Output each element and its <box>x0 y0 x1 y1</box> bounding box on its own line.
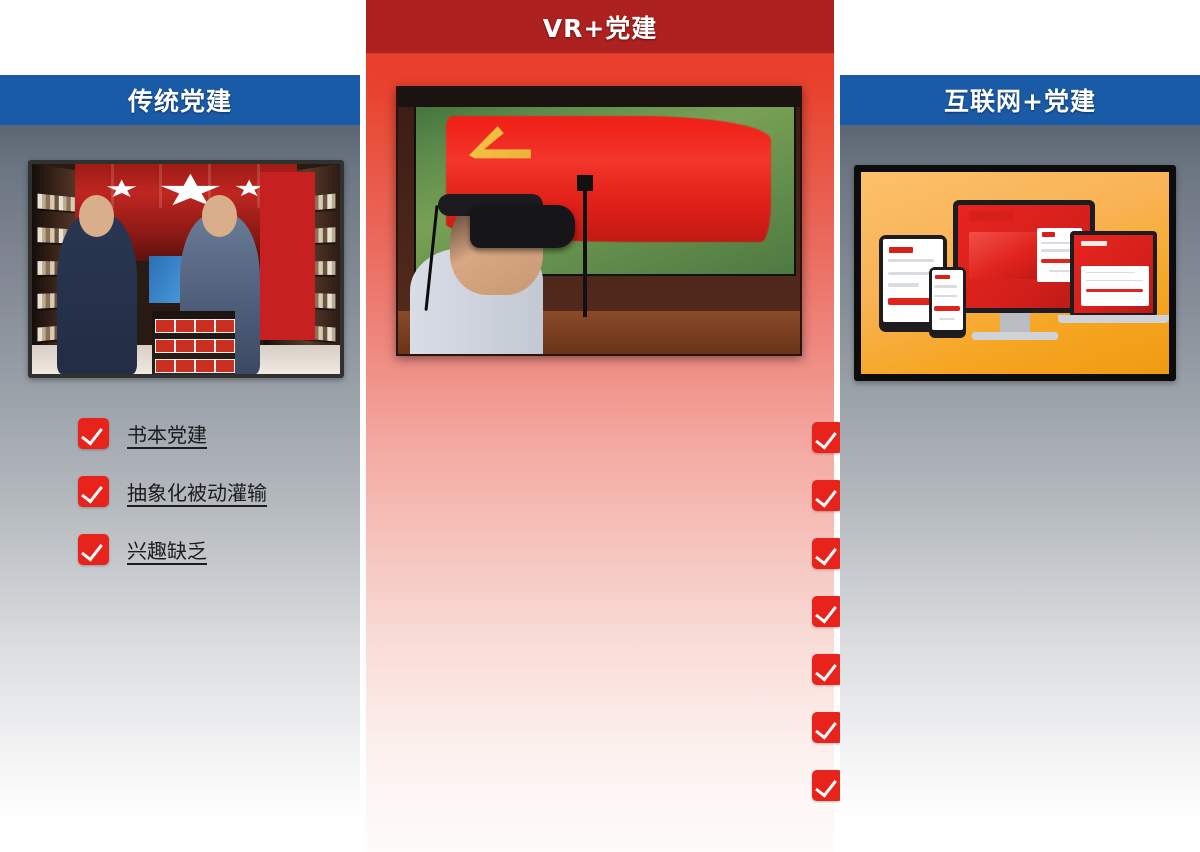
multi-device-image <box>861 172 1169 374</box>
list-item-label: 抽象化被动灌输 <box>127 477 267 506</box>
list-item[interactable]: 交互式深入学习 <box>812 466 834 524</box>
left-feature-list: 书本党建 抽象化被动灌输 兴趣缺乏 <box>78 404 360 578</box>
middle-column-header: VR+党建 <box>366 0 834 53</box>
right-photo-frame <box>854 165 1176 381</box>
list-item[interactable]: 书本党建 <box>78 404 360 462</box>
left-column-header: 传统党建 <box>0 75 360 125</box>
app-logo-icon <box>969 211 1014 220</box>
monitor-neck <box>1000 313 1031 333</box>
column-internet: 互联网+党建 <box>840 0 1200 852</box>
phone-login-button[interactable] <box>934 306 960 311</box>
check-mark-icon <box>812 422 843 453</box>
reading-room-image <box>32 164 340 374</box>
left-header-label: 传统党建 <box>128 82 232 118</box>
smartphone <box>929 267 966 338</box>
check-mark-icon <box>812 596 843 627</box>
middle-photo-frame <box>396 86 802 356</box>
check-mark-icon <box>78 418 109 449</box>
column-vr: VR+党建 沉浸式党建 <box>366 0 834 852</box>
list-item-label: 书本党建 <box>127 419 207 448</box>
check-mark-icon <box>812 770 843 801</box>
laptop-screen <box>1074 235 1152 314</box>
list-item-label: 兴趣缺乏 <box>127 535 207 564</box>
right-header-label: 互联网+党建 <box>944 82 1096 118</box>
list-item[interactable]: 一次投入，反复使用 <box>812 698 834 756</box>
list-item[interactable]: 创新模式，打破时空限制 <box>812 524 834 582</box>
list-item[interactable]: 沉浸式党建 <box>812 408 834 466</box>
vr-experience-image <box>398 88 800 354</box>
column-traditional: 传统党建 <box>0 0 360 852</box>
monitor-base <box>972 332 1058 340</box>
list-item[interactable]: 历史感同身受，互动性强 <box>812 582 834 640</box>
laptop-base <box>1058 315 1169 323</box>
left-photo-frame <box>28 160 344 378</box>
national-flag <box>260 172 315 340</box>
list-item[interactable]: 抽象化被动灌输 <box>78 462 360 520</box>
check-mark-icon <box>812 712 843 743</box>
middle-header-label: VR+党建 <box>543 9 658 45</box>
check-mark-icon <box>78 476 109 507</box>
list-item[interactable]: 未来趋势，社会主流 <box>812 756 834 814</box>
sensor-stand <box>583 189 587 317</box>
ceiling-beam <box>398 88 800 107</box>
middle-feature-list: 沉浸式党建 交互式深入学习 创新模式，打破时空限制 历史感同身受，互动性强 未来… <box>812 408 834 814</box>
check-mark-icon <box>812 538 843 569</box>
list-item[interactable]: 未来趋势，社会主流 <box>812 640 834 698</box>
phone-screen <box>932 270 963 330</box>
check-mark-icon <box>812 654 843 685</box>
display-table <box>152 311 235 374</box>
right-column-header: 互联网+党建 <box>840 75 1200 125</box>
promo-poster <box>969 232 1037 279</box>
check-mark-icon <box>78 534 109 565</box>
person-figure <box>57 214 137 374</box>
check-mark-icon <box>812 480 843 511</box>
list-item[interactable]: 兴趣缺乏 <box>78 520 360 578</box>
comparison-board: 传统党建 <box>0 0 1200 852</box>
vr-headset-icon <box>470 205 575 248</box>
laptop <box>1070 231 1156 318</box>
